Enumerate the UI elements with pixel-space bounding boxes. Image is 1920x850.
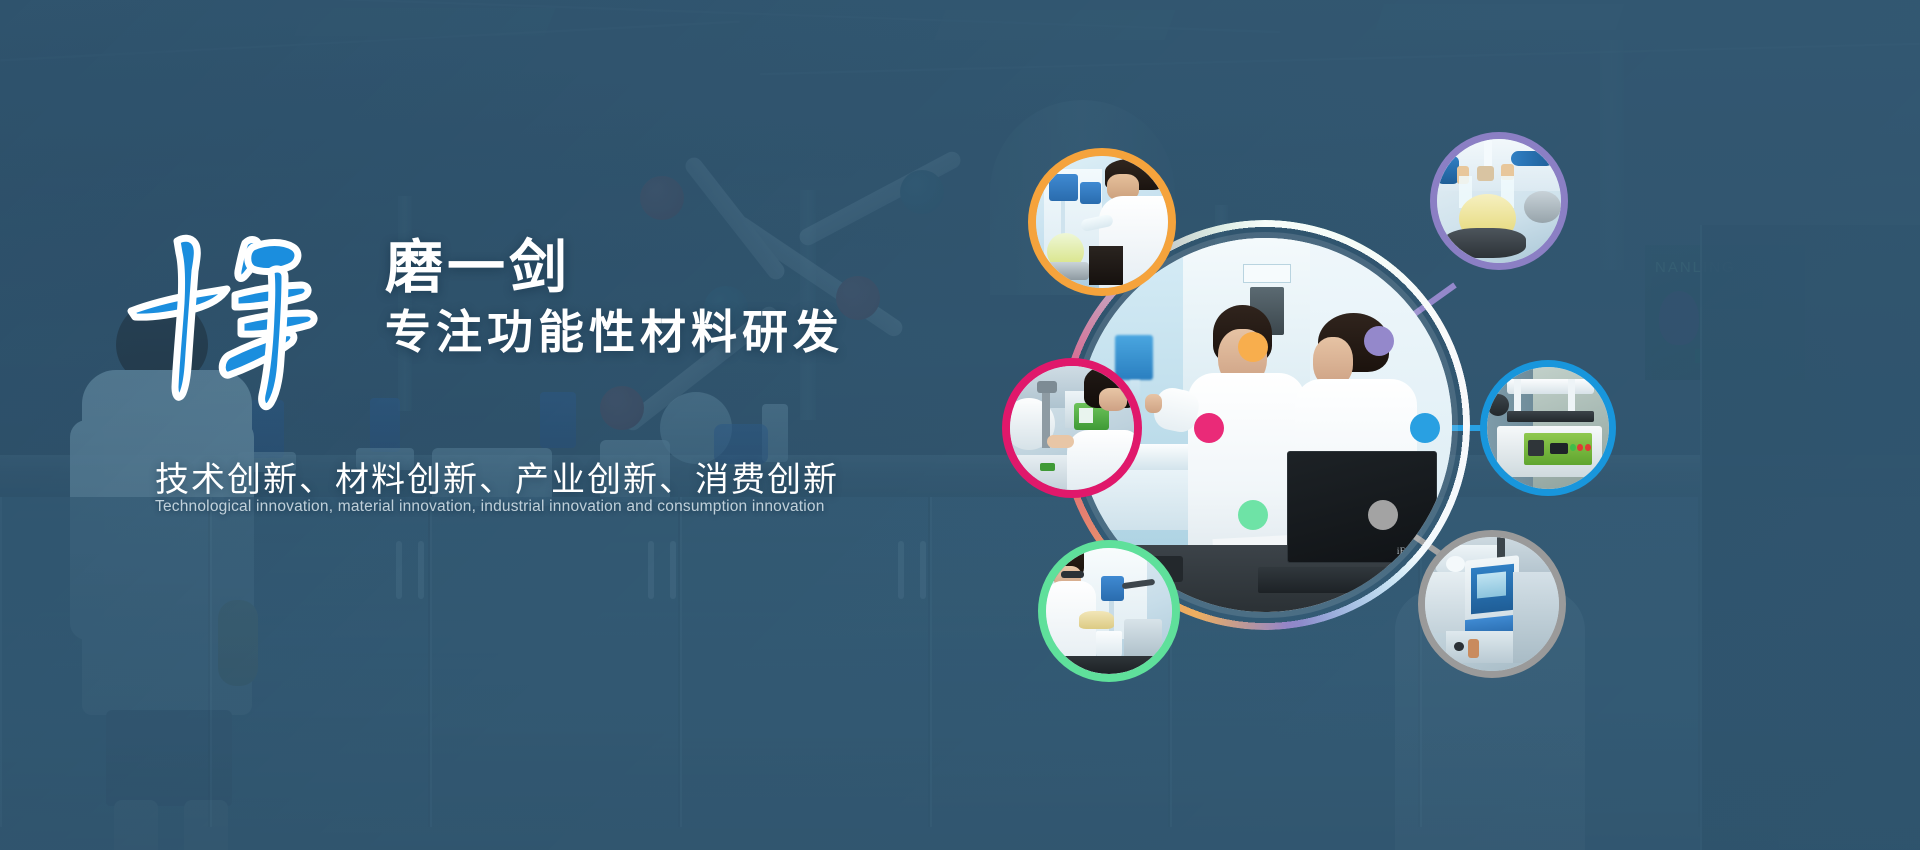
node-dot-analysis-equipment: [1368, 500, 1398, 530]
satellite-coating-machine[interactable]: [1002, 358, 1142, 498]
tagline-chinese: 技术创新、材料创新、产业创新、消费创新: [155, 452, 839, 501]
hero-copy: 磨一剑 专注功能性材料研发 技术创新、材料创新、产业创新、消费创新 Techno…: [0, 0, 900, 850]
circular-photo-cluster: iFound: [1000, 110, 1620, 730]
hub-monitor: iFound: [1287, 451, 1437, 563]
node-dot-fume-hood-mixing: [1238, 500, 1268, 530]
node-dot-testing-instrument: [1410, 413, 1440, 443]
page-title: 磨一剑 专注功能性材料研发: [385, 238, 844, 356]
node-dot-reactor-sampling: [1238, 332, 1268, 362]
tagline-english: Technological innovation, material innov…: [155, 498, 825, 516]
monitor-brand-label: iFound: [1397, 546, 1424, 556]
satellite-flask-reaction[interactable]: [1430, 132, 1568, 270]
headline-line-1: 磨一剑: [385, 235, 571, 300]
brush-calligraphy-shinian: [125, 225, 340, 415]
node-dot-flask-reaction: [1364, 326, 1394, 356]
node-dot-coating-machine: [1194, 413, 1224, 443]
satellite-analysis-equipment[interactable]: [1418, 530, 1566, 678]
satellite-fume-hood-mixing[interactable]: [1038, 540, 1180, 682]
hero-banner: NANLING: [0, 0, 1920, 850]
headline-line-2: 专注功能性材料研发: [385, 309, 844, 356]
satellite-testing-instrument[interactable]: [1480, 360, 1616, 496]
satellite-reactor-sampling[interactable]: [1028, 148, 1176, 296]
